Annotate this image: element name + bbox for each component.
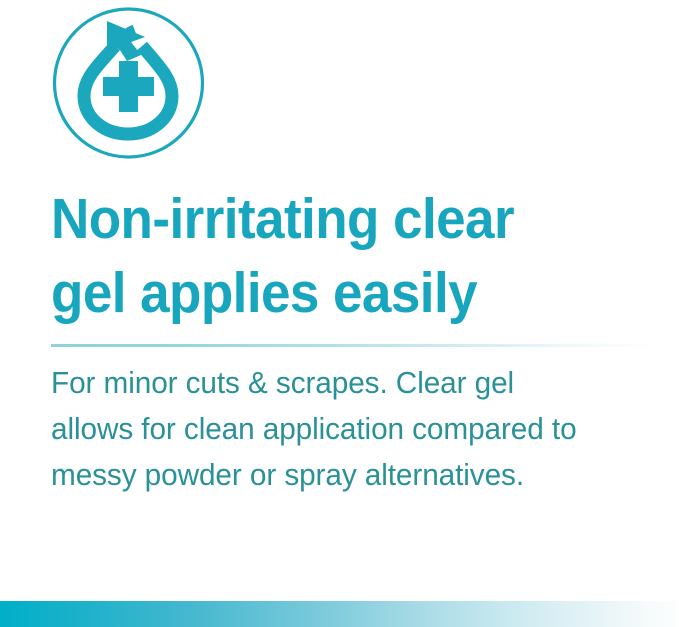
page-title: Non-irritating clear gel applies easily (51, 182, 609, 330)
feature-card: Non-irritating clear gel applies easily … (0, 0, 679, 627)
icon-medical-cross (103, 61, 154, 112)
divider (51, 344, 658, 347)
droplet-with-cross-and-arrow-icon (49, 7, 208, 163)
bottom-accent-bar (0, 601, 679, 627)
body-description: For minor cuts & scrapes. Clear gel allo… (51, 360, 637, 498)
